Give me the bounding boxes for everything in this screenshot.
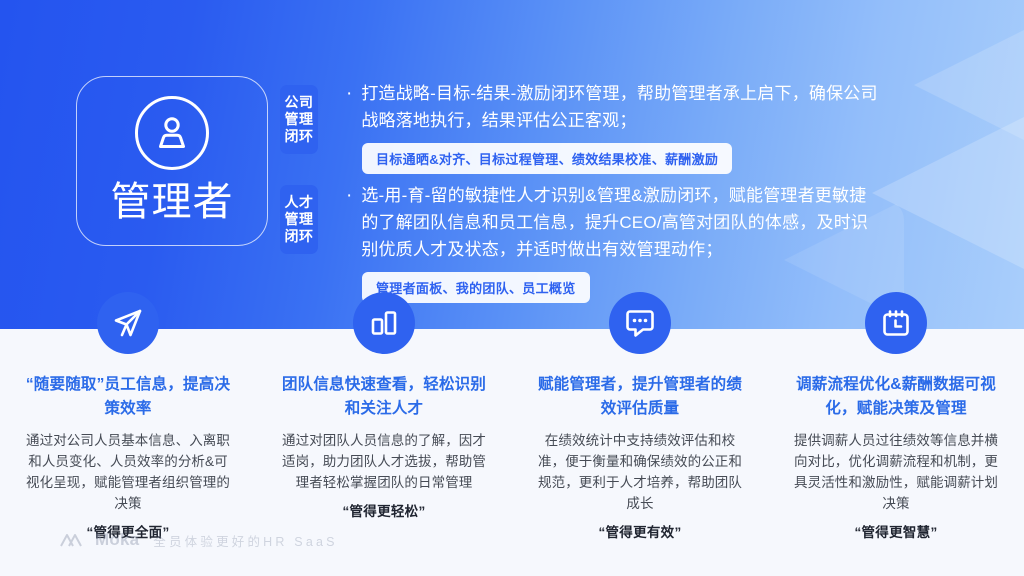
bullet-row: · 打造战略-目标-结果-激励闭环管理，帮助管理者承上启下，确保公司战略落地执行… bbox=[346, 80, 966, 134]
role-name: 管理者 bbox=[111, 180, 234, 224]
paper-plane-icon bbox=[97, 292, 159, 354]
feature-card-title: 赋能管理者，提升管理者的绩效评估质量 bbox=[533, 373, 748, 421]
hero-banner: 管理者 公司 管理 闭环 人才 管理 闭环 · 打造战略-目标-结果-激励闭环管… bbox=[0, 0, 1024, 329]
feature-card-body: 在绩效统计中支持绩效评估和校准，便于衡量和确保绩效的公正和规范，更利于人才培养，… bbox=[534, 430, 746, 514]
feature-card: 赋能管理者，提升管理者的绩效评估质量 在绩效统计中支持绩效评估和校准，便于衡量和… bbox=[512, 329, 768, 576]
bullet-text: 打造战略-目标-结果-激励闭环管理，帮助管理者承上启下，确保公司战略落地执行，结… bbox=[361, 80, 881, 134]
badge-line: 公司 bbox=[282, 94, 316, 111]
bullet-marker: · bbox=[346, 80, 352, 134]
feature-card-title: 调薪流程优化&薪酬数据可视化，赋能决策及管理 bbox=[789, 373, 1004, 421]
bullet-text: 选-用-育-留的敏捷性人才识别&管理&激励闭环，赋能管理者更敏捷的了解团队信息和… bbox=[361, 182, 881, 263]
badge-line: 人才 bbox=[282, 194, 316, 211]
bar-chart-icon bbox=[353, 292, 415, 354]
badge-line: 闭环 bbox=[282, 128, 316, 145]
hero-section-talent: · 选-用-育-留的敏捷性人才识别&管理&激励闭环，赋能管理者更敏捷的了解团队信… bbox=[346, 182, 966, 303]
feature-card-body: 通过对团队人员信息的了解，因才适岗，助力团队人才选拔，帮助管理者轻松掌握团队的日… bbox=[278, 430, 490, 493]
footer-brand: Moka bbox=[95, 530, 139, 550]
role-card: 管理者 bbox=[76, 76, 268, 246]
feature-card-slogan: “管得更有效” bbox=[598, 521, 681, 541]
feature-card-title: 团队信息快速查看，轻松识别和关注人才 bbox=[277, 373, 492, 421]
feature-card: 调薪流程优化&薪酬数据可视化，赋能决策及管理 提供调薪人员过往绩效等信息并横向对… bbox=[768, 329, 1024, 576]
feature-card-body: 提供调薪人员过往绩效等信息并横向对比，优化调薪流程和机制，更具灵活性和激励性，赋… bbox=[790, 430, 1002, 514]
chat-bubble-icon bbox=[609, 292, 671, 354]
badge-company-management-loop: 公司 管理 闭环 bbox=[280, 85, 318, 154]
badge-talent-management-loop: 人才 管理 闭环 bbox=[280, 185, 318, 254]
feature-card-slogan: “管得更智慧” bbox=[854, 521, 937, 541]
bullet-row: · 选-用-育-留的敏捷性人才识别&管理&激励闭环，赋能管理者更敏捷的了解团队信… bbox=[346, 182, 966, 263]
feature-card-title: “随要随取”员工信息，提高决策效率 bbox=[21, 373, 236, 421]
feature-card-body: 通过对公司人员基本信息、入离职和人员变化、人员效率的分析&可视化呈现，赋能管理者… bbox=[22, 430, 234, 514]
badge-line: 管理 bbox=[282, 111, 316, 128]
footer-tagline: 全员体验更好的HR SaaS bbox=[153, 531, 337, 550]
user-avatar-icon bbox=[135, 96, 209, 170]
badge-line: 闭环 bbox=[282, 228, 316, 245]
badge-line: 管理 bbox=[282, 211, 316, 228]
feature-tag-pill: 目标通晒&对齐、目标过程管理、绩效结果校准、薪酬激励 bbox=[362, 143, 732, 174]
footer: Moka 全员体验更好的HR SaaS bbox=[60, 530, 338, 550]
hero-section-company: · 打造战略-目标-结果-激励闭环管理，帮助管理者承上启下，确保公司战略落地执行… bbox=[346, 80, 966, 174]
calendar-clock-icon bbox=[865, 292, 927, 354]
bullet-marker: · bbox=[346, 182, 352, 263]
moka-mountains-icon: Moka bbox=[60, 530, 139, 550]
feature-card-slogan: “管得更轻松” bbox=[342, 500, 425, 520]
